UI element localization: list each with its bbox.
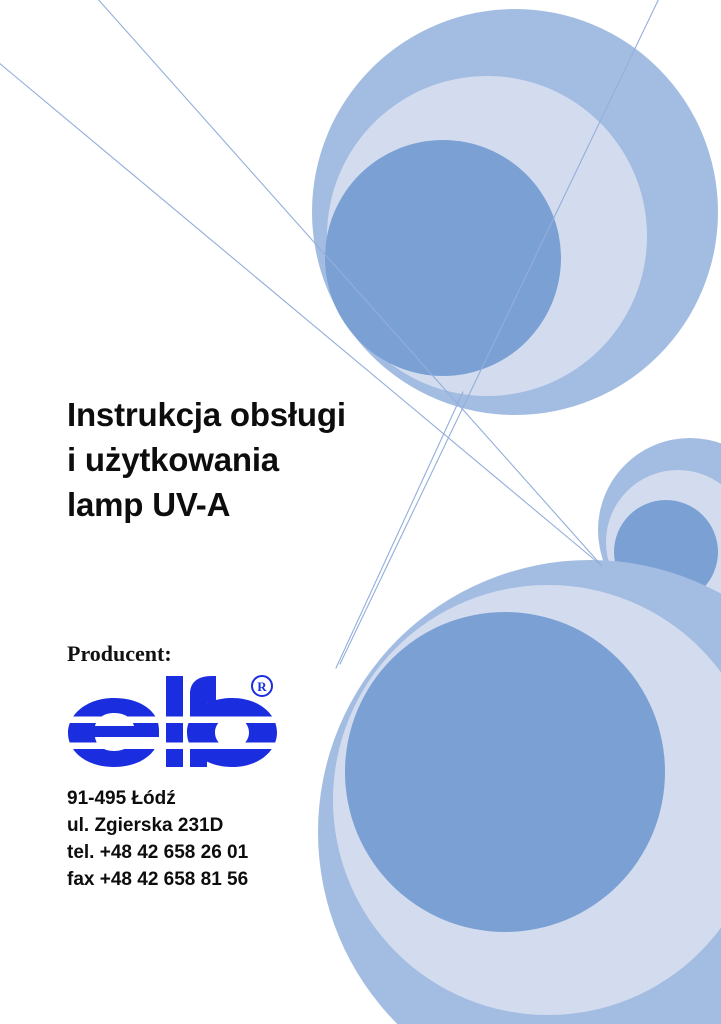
address-line-fax: fax +48 42 658 81 56: [67, 866, 367, 893]
manufacturer-label: Producent:: [67, 641, 172, 667]
address-line-street: ul. Zgierska 231D: [67, 812, 367, 839]
glyph-l: [166, 676, 183, 767]
page-title: Instrukcja obsługi i użytkowania lamp UV…: [67, 392, 397, 527]
manufacturer-address: 91-495 Łódź ul. Zgierska 231D tel. +48 4…: [67, 785, 367, 893]
elfo-logo: R: [66, 672, 281, 772]
cover-page: Instrukcja obsługi i użytkowania lamp UV…: [0, 0, 721, 1024]
registered-trademark-letter: R: [257, 679, 267, 694]
title-line-2: i użytkowania: [67, 437, 397, 482]
address-line-postcode-city: 91-495 Łódź: [67, 785, 367, 812]
title-line-1: Instrukcja obsługi: [67, 392, 397, 437]
address-line-phone: tel. +48 42 658 26 01: [67, 839, 367, 866]
title-line-3: lamp UV-A: [67, 482, 397, 527]
glyph-e: [68, 698, 159, 767]
elfo-wordmark-glyphs: [68, 676, 277, 767]
content-layer: Instrukcja obsługi i użytkowania lamp UV…: [0, 0, 721, 1024]
glyph-o: [187, 698, 277, 767]
